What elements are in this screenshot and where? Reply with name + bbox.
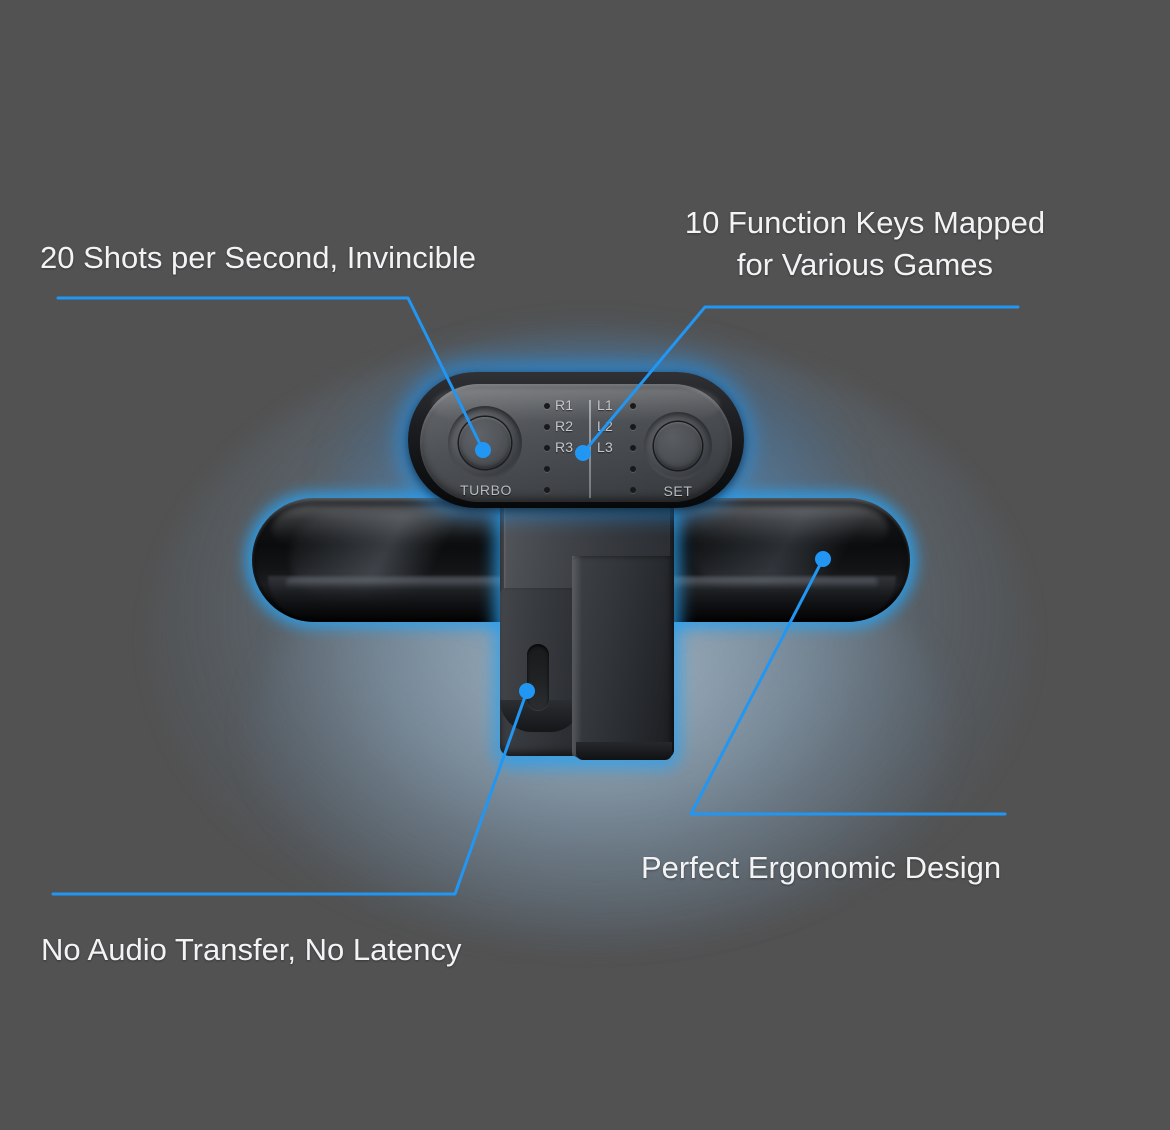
keymap-label-right: L2 bbox=[597, 418, 613, 434]
keymap-row: R1 L1 bbox=[540, 398, 640, 413]
callout-label-audio: No Audio Transfer, No Latency bbox=[41, 929, 461, 971]
keymap-led-grid: R1 L1 R2 L2 R3 L3 bbox=[540, 398, 640, 500]
keymap-row bbox=[540, 482, 640, 497]
clip-slot bbox=[527, 644, 549, 710]
turbo-button-label: TURBO bbox=[440, 482, 532, 498]
led-indicator-left bbox=[544, 445, 550, 451]
led-indicator-left bbox=[544, 424, 550, 430]
keymap-label-left: R1 bbox=[555, 397, 573, 413]
keymap-label-right: L3 bbox=[597, 439, 613, 455]
keymap-label-left: R2 bbox=[555, 418, 573, 434]
led-indicator-right bbox=[630, 403, 636, 409]
infographic-canvas: TURBO SET R1 L1 R2 L2 R3 L3 bbox=[0, 0, 1170, 1130]
callout-label-keys-line1: 10 Function Keys Mapped bbox=[650, 202, 1080, 244]
callout-label-keys-line2: for Various Games bbox=[650, 244, 1080, 286]
keymap-label-left: R3 bbox=[555, 439, 573, 455]
clip-body bbox=[572, 556, 674, 758]
keymap-row: R3 L3 bbox=[540, 440, 640, 455]
led-indicator-right bbox=[630, 445, 636, 451]
clip-body-edge-highlight bbox=[572, 556, 582, 756]
keymap-label-right: L1 bbox=[597, 397, 613, 413]
set-button[interactable] bbox=[654, 422, 702, 470]
led-indicator-left bbox=[544, 403, 550, 409]
callout-label-ergonomics: Perfect Ergonomic Design bbox=[641, 847, 1001, 889]
led-indicator-right bbox=[630, 424, 636, 430]
callout-label-keys: 10 Function Keys Mapped for Various Game… bbox=[650, 202, 1080, 285]
keymap-row: R2 L2 bbox=[540, 419, 640, 434]
led-indicator-right bbox=[630, 487, 636, 493]
clip-body-foot bbox=[576, 742, 672, 760]
led-indicator-left bbox=[544, 466, 550, 472]
callout-label-shots: 20 Shots per Second, Invincible bbox=[40, 237, 476, 279]
led-indicator-right bbox=[630, 466, 636, 472]
keymap-row bbox=[540, 461, 640, 476]
set-button-label: SET bbox=[632, 483, 724, 499]
led-indicator-left bbox=[544, 487, 550, 493]
turbo-button[interactable] bbox=[459, 417, 511, 469]
